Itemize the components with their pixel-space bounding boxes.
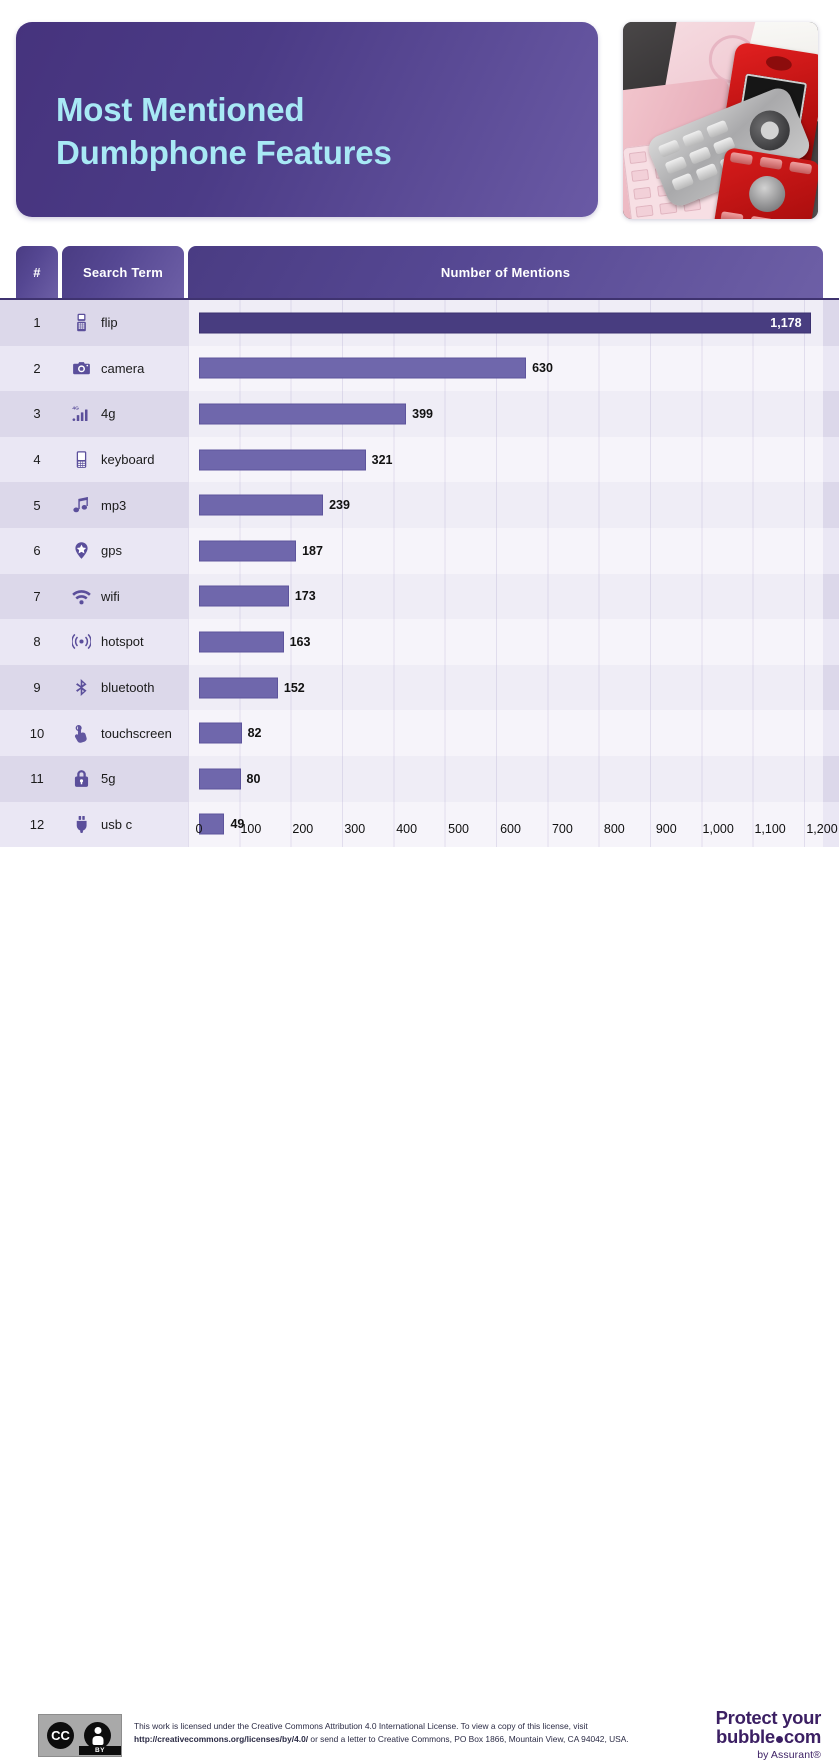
license-url[interactable]: http://creativecommons.org/licenses/by/4… (134, 1734, 308, 1744)
camera-icon (72, 359, 91, 378)
bar-value-label: 187 (302, 544, 323, 558)
bar-value-label: 239 (329, 498, 350, 512)
row-rank: 3 (16, 391, 58, 437)
table-row: 6gps187 (0, 528, 839, 574)
column-header-rank: # (16, 246, 58, 298)
x-axis-tick: 400 (396, 822, 417, 836)
gridlines (188, 710, 823, 756)
row-rank: 5 (16, 482, 58, 528)
row-search-term: bluetooth (62, 665, 184, 711)
usb-icon (72, 815, 91, 834)
bar-value-label: 630 (532, 361, 553, 375)
bar-value-label: 80 (247, 772, 261, 786)
row-term-label: camera (101, 361, 144, 376)
row-bar-cell: 152 (188, 665, 823, 711)
license-line-1: This work is licensed under the Creative… (134, 1721, 588, 1731)
wifi-icon (72, 587, 91, 606)
x-axis-tick: 600 (500, 822, 521, 836)
row-search-term: touchscreen (62, 710, 184, 756)
bar (199, 723, 242, 744)
table-row: 1flip1,178 (0, 300, 839, 346)
table-row: 34G4g399 (0, 391, 839, 437)
column-header-mentions: Number of Mentions (188, 246, 823, 298)
row-search-term: gps (62, 528, 184, 574)
x-axis-tick: 500 (448, 822, 469, 836)
table-row: 2camera630 (0, 346, 839, 392)
row-bar-cell: 163 (188, 619, 823, 665)
svg-text:4G: 4G (72, 406, 79, 412)
bar-value-label: 152 (284, 681, 305, 695)
x-axis-tick: 0 (196, 822, 203, 836)
row-term-label: usb c (101, 817, 132, 832)
x-axis-tick: 700 (552, 822, 573, 836)
x-axis-tick: 100 (240, 822, 261, 836)
row-term-label: bluetooth (101, 680, 155, 695)
bar-value-label: 82 (248, 726, 262, 740)
row-term-label: touchscreen (101, 726, 172, 741)
table-row: 7wifi173 (0, 574, 839, 620)
x-axis: 01002003004005006007008009001,0001,1001,… (188, 822, 811, 844)
row-search-term: usb c (62, 802, 184, 848)
license-text: This work is licensed under the Creative… (134, 1720, 639, 1746)
row-term-label: keyboard (101, 452, 154, 467)
row-rank: 11 (16, 756, 58, 802)
row-bar-cell: 239 (188, 482, 823, 528)
infographic-page: Most Mentioned Dumbphone Features # (0, 0, 839, 917)
x-axis-tick: 1,200 (806, 822, 837, 836)
row-search-term: mp3 (62, 482, 184, 528)
title-line-2: Dumbphone Features (56, 131, 576, 174)
brand-logo: Protect your bubblecom by Assurant® (651, 1708, 821, 1761)
row-rank: 1 (16, 300, 58, 346)
license-line-2: or send a letter to Creative Commons, PO… (308, 1734, 629, 1744)
cc-mark-text: CC (47, 1722, 74, 1749)
bar-value-label: 321 (372, 453, 393, 467)
table-row: 8hotspot163 (0, 619, 839, 665)
footer: CC BY This work is licensed under the Cr… (0, 852, 839, 917)
row-term-label: mp3 (101, 498, 126, 513)
logo-line-3: by Assurant® (651, 1749, 821, 1761)
logo-bubble-text: bubble (716, 1726, 775, 1747)
row-search-term: 4G4g (62, 391, 184, 437)
bar (199, 540, 296, 561)
row-term-label: wifi (101, 589, 120, 604)
x-axis-tick: 1,100 (754, 822, 785, 836)
bar-value-label: 1,178 (770, 316, 801, 330)
logo-dot-icon (776, 1736, 783, 1743)
lock-icon (72, 769, 91, 788)
table-row: 5mp3239 (0, 482, 839, 528)
cc-by-label: BY (79, 1746, 121, 1755)
flip-phone-icon (72, 313, 91, 332)
row-bar-cell: 1,178 (188, 300, 823, 346)
x-axis-tick: 900 (656, 822, 677, 836)
row-term-label: flip (101, 315, 118, 330)
music-note-icon (72, 496, 91, 515)
page-title: Most Mentioned Dumbphone Features (56, 88, 576, 174)
x-axis-tick: 300 (344, 822, 365, 836)
row-rank: 12 (16, 802, 58, 848)
bar (199, 312, 811, 333)
row-rank: 6 (16, 528, 58, 574)
row-rank: 10 (16, 710, 58, 756)
table-row: 4keyboard321 (0, 437, 839, 483)
x-axis-tick: 800 (604, 822, 625, 836)
row-rank: 9 (16, 665, 58, 711)
row-bar-cell: 321 (188, 437, 823, 483)
row-search-term: flip (62, 300, 184, 346)
table-row: 115g80 (0, 756, 839, 802)
hotspot-icon (72, 632, 91, 651)
bar (199, 403, 406, 424)
row-search-term: keyboard (62, 437, 184, 483)
x-axis-tick: 1,000 (703, 822, 734, 836)
keypad-phone-icon (72, 450, 91, 469)
map-pin-icon (72, 541, 91, 560)
row-search-term: hotspot (62, 619, 184, 665)
row-term-label: 4g (101, 406, 115, 421)
row-rank: 8 (16, 619, 58, 665)
bar (199, 449, 366, 470)
row-bar-cell: 173 (188, 574, 823, 620)
row-search-term: wifi (62, 574, 184, 620)
bar (199, 586, 289, 607)
title-banner: Most Mentioned Dumbphone Features (16, 22, 598, 217)
table-row: 10touchscreen82 (0, 710, 839, 756)
row-rank: 7 (16, 574, 58, 620)
bar (199, 495, 323, 516)
flip-phones-photo (623, 22, 818, 219)
bluetooth-icon (72, 678, 91, 697)
row-term-label: gps (101, 543, 122, 558)
row-term-label: 5g (101, 771, 115, 786)
bar (199, 358, 526, 379)
row-bar-cell: 187 (188, 528, 823, 574)
data-rows: 1flip1,1782camera63034G4g3994keyboard321… (0, 300, 839, 847)
row-rank: 2 (16, 346, 58, 392)
touch-hand-icon (72, 724, 91, 743)
row-bar-cell: 82 (188, 710, 823, 756)
row-search-term: 5g (62, 756, 184, 802)
signal-4g-icon: 4G (72, 404, 91, 423)
row-bar-cell: 80 (188, 756, 823, 802)
logo-com-text: com (784, 1726, 821, 1747)
row-bar-cell: 399 (188, 391, 823, 437)
table-row: 9bluetooth152 (0, 665, 839, 711)
title-line-1: Most Mentioned (56, 91, 304, 128)
x-axis-tick: 200 (292, 822, 313, 836)
column-header-search-term: Search Term (62, 246, 184, 298)
row-search-term: camera (62, 346, 184, 392)
logo-line-2: bubblecom (651, 1727, 821, 1746)
bar (199, 631, 284, 652)
logo-line-1: Protect your (651, 1708, 821, 1727)
bar (199, 768, 241, 789)
bar-value-label: 173 (295, 589, 316, 603)
row-bar-cell: 630 (188, 346, 823, 392)
creative-commons-badge: CC BY (38, 1714, 122, 1757)
bar-value-label: 163 (290, 635, 311, 649)
bar-value-label: 399 (412, 407, 433, 421)
row-term-label: hotspot (101, 634, 144, 649)
bar (199, 677, 278, 698)
gridlines (188, 756, 823, 802)
row-rank: 4 (16, 437, 58, 483)
